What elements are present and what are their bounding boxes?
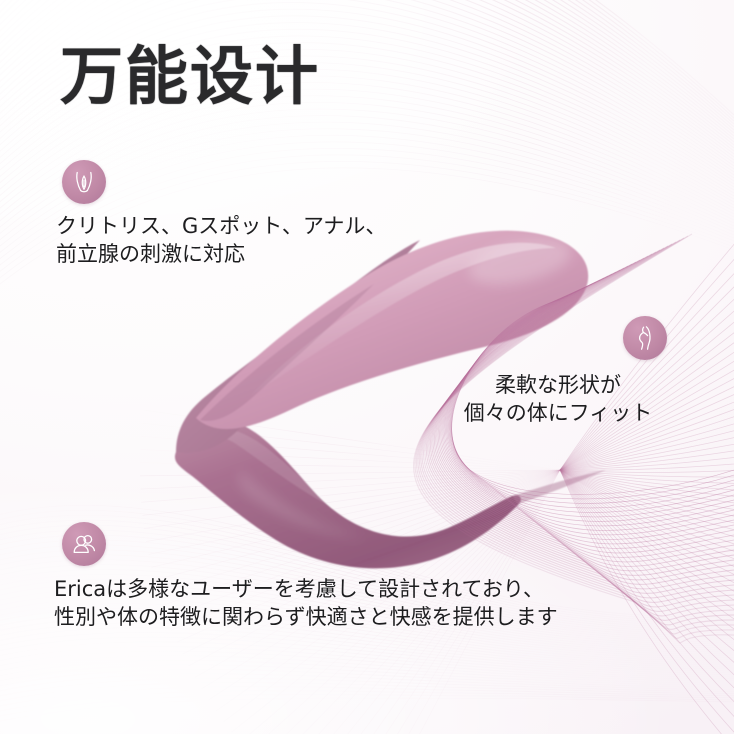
female-body-silhouette-icon [623, 316, 667, 360]
feature-item-everyone: Ericaは多様なユーザーを考慮して設計されており、 性別や体の特徴に関わらず快… [62, 522, 558, 632]
page-title: 万能设计 [60, 44, 320, 110]
feature-label-clitoris: クリトリス、Gスポット、アナル、 前立腺の刺激に対応 [56, 213, 386, 269]
vulva-anatomy-icon [62, 160, 106, 204]
feature-label-everyone: Ericaは多様なユーザーを考慮して設計されており、 性別や体の特徴に関わらず快… [54, 576, 558, 632]
two-people-icon [62, 522, 106, 566]
feature-item-clitoris: クリトリス、Gスポット、アナル、 前立腺の刺激に対応 [62, 160, 386, 269]
feature-item-flexible: 柔軟な形状が 個々の体にフィット [615, 316, 667, 360]
feature-label-flexible: 柔軟な形状が 個々の体にフィット [443, 372, 673, 428]
product-feature-banner: 万能设计 クリトリス、Gスポット、アナル、 前立腺の刺激に対応 柔軟な形状が 個… [0, 0, 734, 734]
